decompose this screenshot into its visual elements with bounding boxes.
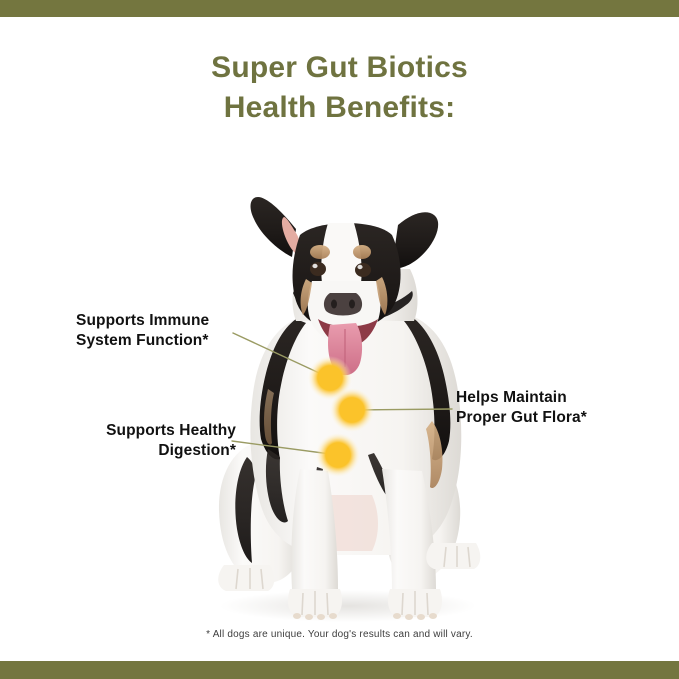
callout-immune-line-1: Supports Immune bbox=[76, 311, 209, 331]
dog-nostril-left bbox=[331, 300, 337, 309]
dog-right-eye-highlight bbox=[357, 265, 362, 269]
callout-immune-line-2: System Function* bbox=[76, 331, 209, 351]
top-accent-band bbox=[0, 0, 679, 17]
callout-gut-flora-line-2: Proper Gut Flora* bbox=[456, 408, 587, 428]
callout-label-digestion: Supports Healthy Digestion* bbox=[76, 421, 236, 461]
bottom-accent-band bbox=[0, 661, 679, 679]
dog-rear-right-paw bbox=[426, 543, 480, 569]
callout-label-immune: Supports Immune System Function* bbox=[76, 311, 209, 351]
callout-gut-flora-line-1: Helps Maintain bbox=[456, 388, 587, 408]
dog-eyebrow-right bbox=[353, 245, 371, 259]
dog-eyebrow-left bbox=[310, 245, 330, 259]
dog-left-eye bbox=[310, 262, 326, 276]
callout-digestion-line-1: Supports Healthy bbox=[76, 421, 236, 441]
disclaimer-footnote: * All dogs are unique. Your dog's result… bbox=[0, 629, 679, 640]
dog-right-eye bbox=[355, 263, 371, 277]
callout-digestion-line-2: Digestion* bbox=[76, 441, 236, 461]
hotspot-dot-gut-flora[interactable] bbox=[330, 388, 374, 432]
product-benefits-infographic: Super Gut Biotics Health Benefits: bbox=[0, 0, 679, 679]
hotspot-dot-digestion[interactable] bbox=[316, 433, 360, 477]
dog-nostril-right bbox=[349, 300, 355, 309]
dog-left-eye-highlight bbox=[312, 264, 317, 268]
dog-nose bbox=[324, 293, 362, 316]
dog-rear-left-paw bbox=[218, 565, 274, 591]
callout-label-gut-flora: Helps Maintain Proper Gut Flora* bbox=[456, 388, 587, 428]
